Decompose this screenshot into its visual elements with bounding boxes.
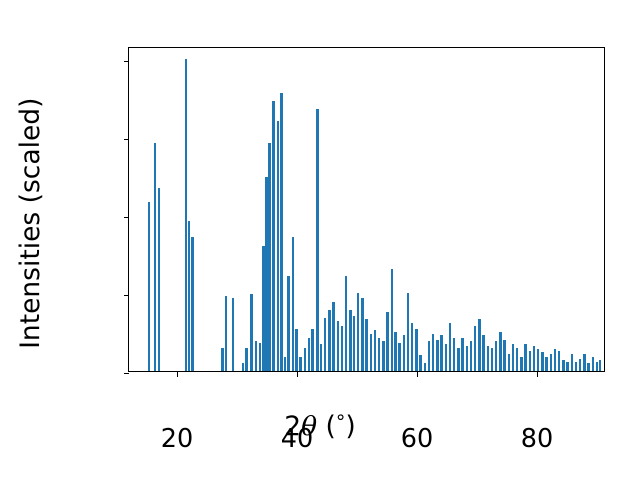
- bar: [328, 310, 331, 371]
- y-tick-mark: [124, 217, 130, 218]
- x-axis-label-close: ): [345, 411, 355, 442]
- bar: [324, 318, 327, 371]
- bar: [415, 329, 418, 371]
- bar: [398, 343, 401, 371]
- bar: [566, 362, 569, 371]
- bar: [295, 329, 298, 371]
- bar: [245, 348, 248, 371]
- bar: [533, 346, 536, 371]
- bar: [482, 335, 485, 371]
- bar: [332, 302, 335, 371]
- y-tick-mark: [124, 61, 130, 62]
- bar: [154, 143, 157, 371]
- bar: [337, 321, 340, 371]
- bar: [345, 276, 348, 371]
- bar: [466, 346, 469, 371]
- bar: [382, 341, 385, 371]
- bar: [148, 202, 151, 371]
- bar: [391, 269, 394, 371]
- bar: [432, 334, 435, 372]
- bar: [394, 332, 397, 371]
- bar: [304, 348, 307, 371]
- bar: [250, 294, 253, 371]
- x-tick-mark: [297, 371, 298, 377]
- figure: Intensities (scaled) 2θ (°) 025507510020…: [0, 0, 640, 480]
- bar: [320, 344, 323, 371]
- bar: [191, 237, 194, 371]
- y-axis-label: Intensities (scaled): [18, 43, 45, 403]
- bar: [311, 329, 314, 371]
- bar: [524, 344, 527, 371]
- bar: [407, 293, 410, 371]
- bar: [592, 357, 595, 371]
- bar: [268, 143, 271, 371]
- bar: [545, 357, 548, 371]
- bar: [503, 340, 506, 371]
- bar: [571, 354, 574, 371]
- bar: [474, 326, 477, 371]
- bar: [495, 341, 498, 371]
- bar: [284, 357, 287, 371]
- bar: [188, 221, 191, 371]
- bar: [428, 341, 431, 371]
- bar: [491, 348, 494, 371]
- degree-symbol: °: [336, 411, 346, 433]
- bar: [365, 319, 368, 371]
- bar: [461, 338, 464, 371]
- x-tick-label: 20: [161, 427, 193, 453]
- bar: [562, 360, 565, 371]
- x-tick-label: 40: [281, 427, 313, 453]
- y-tick-mark: [124, 139, 130, 140]
- bar: [411, 323, 414, 371]
- bar-series: [129, 48, 604, 371]
- bar: [508, 354, 511, 371]
- bar: [272, 101, 275, 371]
- bar: [449, 323, 452, 371]
- bar: [287, 276, 290, 371]
- bar: [516, 348, 519, 371]
- bar: [292, 237, 295, 371]
- bar: [550, 354, 553, 371]
- bar: [554, 349, 557, 371]
- bar: [316, 109, 319, 372]
- bar: [440, 335, 443, 371]
- x-axis-label-open: (: [317, 411, 336, 442]
- bar: [403, 335, 406, 371]
- bar: [579, 359, 582, 372]
- bar: [280, 93, 283, 371]
- x-tick-mark: [417, 371, 418, 377]
- bar: [445, 344, 448, 371]
- x-tick-label: 80: [521, 427, 553, 453]
- bar: [374, 330, 377, 371]
- bar: [349, 310, 352, 371]
- bar: [158, 188, 161, 371]
- bar: [520, 357, 523, 371]
- bar: [419, 355, 422, 371]
- bar: [541, 352, 544, 371]
- bar: [255, 341, 258, 371]
- y-tick-mark: [124, 373, 130, 374]
- plot-area: 025507510020406080: [128, 47, 605, 372]
- bar: [308, 338, 311, 371]
- bar: [470, 341, 473, 371]
- bar: [512, 344, 515, 371]
- bar: [499, 332, 502, 371]
- bar: [277, 121, 280, 371]
- bar: [558, 351, 561, 371]
- x-tick-mark: [537, 371, 538, 377]
- bar: [370, 334, 373, 372]
- bar: [299, 357, 302, 371]
- bar: [221, 348, 224, 371]
- bar: [478, 319, 481, 371]
- bar: [599, 360, 602, 371]
- bar: [575, 362, 578, 371]
- bar: [259, 343, 262, 371]
- bar: [232, 298, 235, 371]
- bar: [537, 349, 540, 371]
- bar: [361, 298, 364, 371]
- bar: [457, 348, 460, 371]
- bar: [587, 363, 590, 371]
- bar: [353, 316, 356, 371]
- bar: [424, 363, 427, 371]
- bar: [341, 326, 344, 371]
- bar: [378, 338, 381, 371]
- x-tick-label: 60: [401, 427, 433, 453]
- bar: [487, 346, 490, 371]
- bar: [436, 340, 439, 371]
- y-tick-mark: [124, 295, 130, 296]
- bar: [242, 363, 245, 371]
- x-tick-mark: [177, 371, 178, 377]
- bar: [386, 312, 389, 371]
- bar: [357, 293, 360, 371]
- bar: [225, 296, 228, 371]
- bar: [583, 354, 586, 371]
- bar: [529, 351, 532, 371]
- bar: [453, 338, 456, 371]
